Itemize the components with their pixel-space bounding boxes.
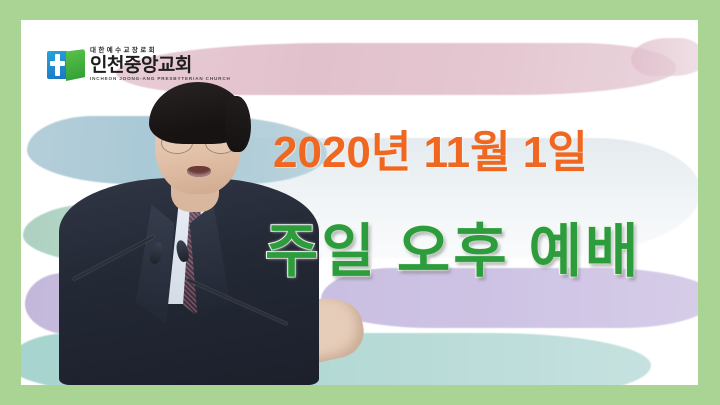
church-logo-text: 대한예수교장로회 인천중앙교회 INCHEON JOONG-ANG PRESBY… (90, 48, 231, 82)
service-date: 2020년 11월 1일 (273, 116, 588, 180)
service-title: 주일 오후 예배 (265, 204, 641, 288)
video-thumbnail: 대한예수교장로회 인천중앙교회 INCHEON JOONG-ANG PRESBY… (0, 0, 720, 405)
church-logo-mark (47, 49, 85, 81)
church-name: 인천중앙교회 (90, 56, 231, 75)
church-name-romanized: INCHEON JOONG-ANG PRESBYTERIAN CHURCH (90, 77, 231, 82)
thumbnail-card: 대한예수교장로회 인천중앙교회 INCHEON JOONG-ANG PRESBY… (21, 20, 698, 385)
speaker-mouth (187, 166, 211, 177)
cross-icon-bar (50, 61, 65, 66)
watercolor-stroke-pink-tail (631, 38, 698, 76)
church-logo: 대한예수교장로회 인천중앙교회 INCHEON JOONG-ANG PRESBY… (47, 44, 197, 86)
logo-flag (66, 49, 85, 81)
denomination-label: 대한예수교장로회 (90, 48, 231, 55)
speaker-hair-side (225, 96, 251, 152)
